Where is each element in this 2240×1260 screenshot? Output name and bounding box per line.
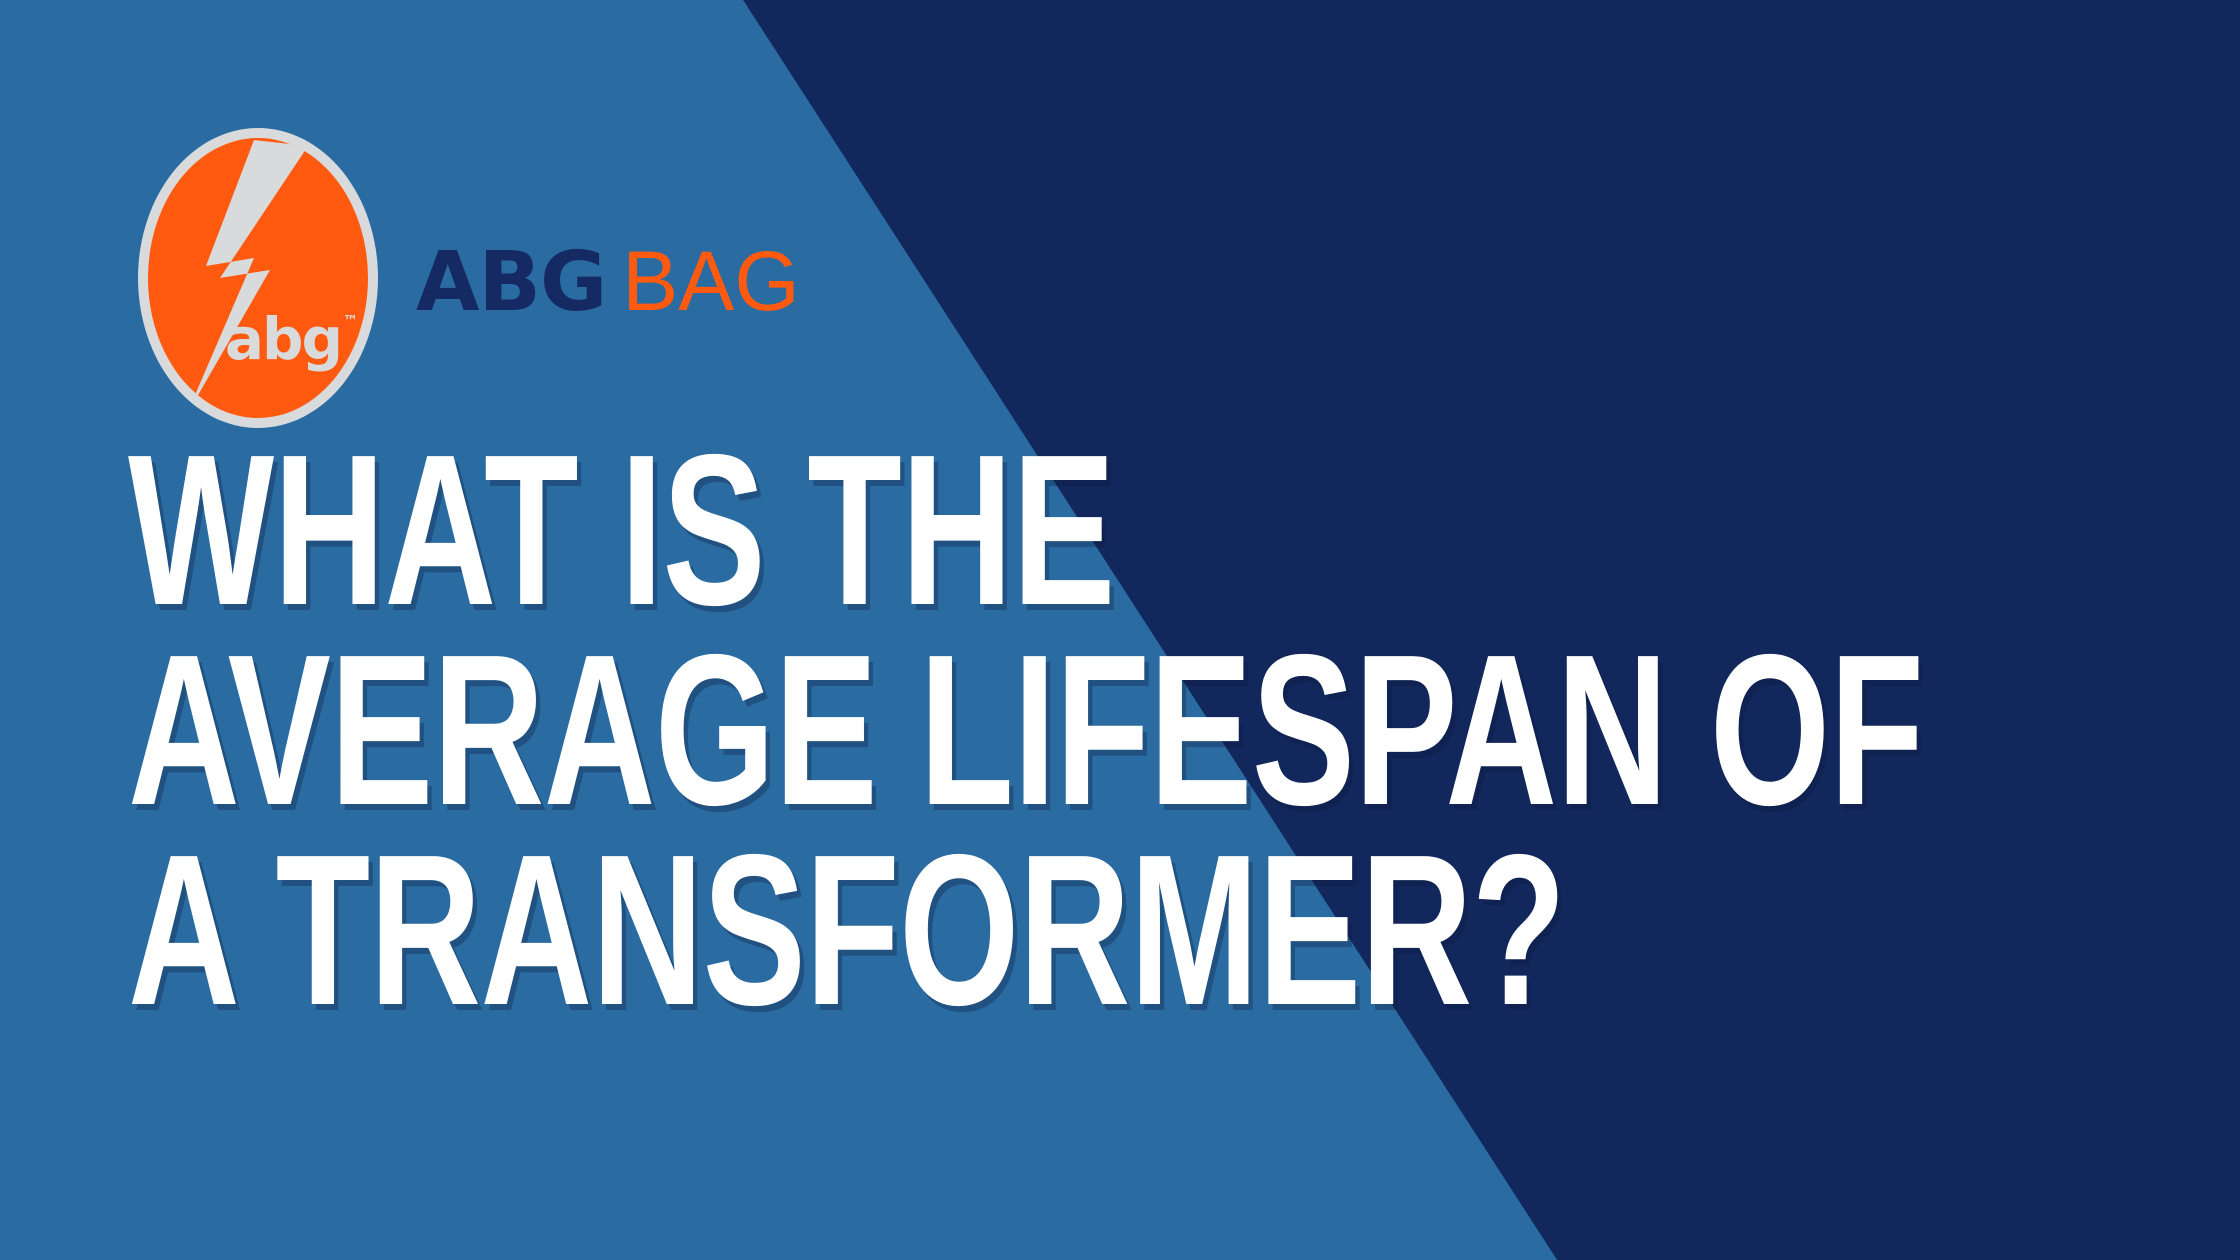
wordmark-abg: ABG <box>416 242 606 324</box>
logo-orange-disc <box>148 138 368 418</box>
logo-inner-wordmark: abg ™ <box>225 310 356 368</box>
headline-block: WHAT IS THE AVERAGE LIFESPAN OF A TRANSF… <box>128 430 2240 1030</box>
headline-line-2: AVERAGE LIFESPAN OF <box>128 630 1923 830</box>
title-card-slide: abg ™ ABG BAG WHAT IS THE AVERAGE LIFESP… <box>0 0 2240 1260</box>
logo-trademark-symbol: ™ <box>343 314 356 329</box>
lightning-bolt-icon <box>158 138 358 418</box>
brand-wordmark: ABG BAG <box>416 239 800 324</box>
headline-line-3: A TRANSFORMER? <box>128 830 1923 1030</box>
headline-line-1: WHAT IS THE <box>128 430 1923 630</box>
wordmark-bag: BAG <box>622 239 799 323</box>
abg-logo-mark[interactable]: abg ™ <box>138 128 378 428</box>
brand-lockup[interactable]: abg ™ ABG BAG <box>138 128 800 428</box>
logo-inner-text: abg <box>225 310 341 368</box>
